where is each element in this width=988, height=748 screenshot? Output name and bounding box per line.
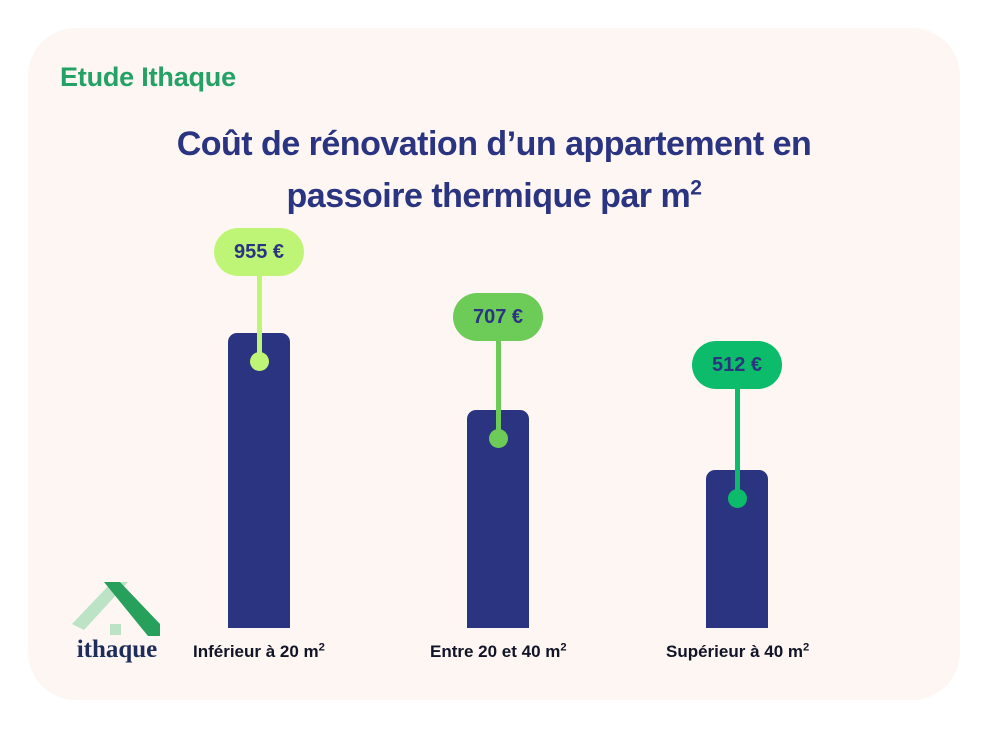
logo-wordmark: ithaque	[62, 636, 172, 664]
infographic-canvas: Etude Ithaque Coût de rénovation d’un ap…	[0, 0, 988, 748]
x-label-text: Inférieur à 20 m	[193, 642, 319, 661]
x-label-superscript: 2	[319, 641, 325, 653]
callout-dot-1	[250, 352, 269, 371]
x-label-text: Entre 20 et 40 m	[430, 642, 560, 661]
x-axis-label-2: Entre 20 et 40 m2	[430, 642, 567, 662]
callout-stem-3	[735, 385, 740, 498]
value-badge-2: 707 €	[453, 293, 543, 341]
x-label-superscript: 2	[560, 641, 566, 653]
value-badge-3: 512 €	[692, 341, 782, 389]
callout-stem-1	[257, 272, 262, 361]
callout-dot-3	[728, 489, 747, 508]
value-badge-1: 955 €	[214, 228, 304, 276]
x-label-superscript: 2	[803, 641, 809, 653]
bar-1	[228, 333, 290, 628]
x-label-text: Supérieur à 40 m	[666, 642, 803, 661]
callout-dot-2	[489, 429, 508, 448]
x-axis-label-1: Inférieur à 20 m2	[193, 642, 325, 662]
ithaque-roof-icon	[70, 578, 162, 636]
brand-logo: ithaque	[62, 578, 172, 670]
callout-stem-2	[496, 337, 501, 438]
x-axis-label-3: Supérieur à 40 m2	[666, 642, 809, 662]
